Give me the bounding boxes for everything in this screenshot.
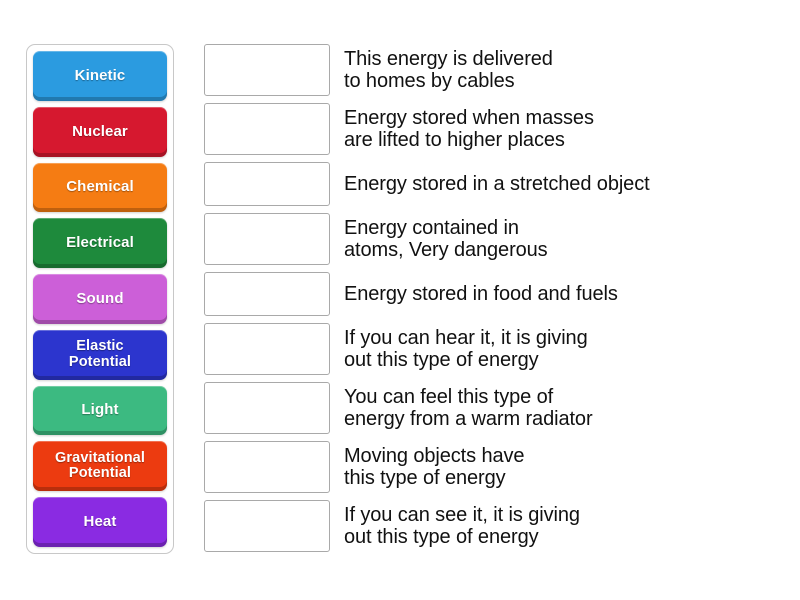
definition-2: Energy stored when masses are lifted to …: [330, 107, 784, 152]
match-row: Energy contained in atoms, Very dangerou…: [204, 213, 784, 265]
definition-3: Energy stored in a stretched object: [330, 173, 784, 195]
match-row: Moving objects have this type of energy: [204, 441, 784, 493]
tile-label: Gravitational Potential: [51, 451, 149, 482]
draggable-tile-nuclear[interactable]: Nuclear: [33, 107, 167, 157]
tile-label: Chemical: [62, 179, 138, 195]
definition-9: If you can see it, it is giving out this…: [330, 504, 784, 549]
draggable-tile-elastic-potential[interactable]: Elastic Potential: [33, 330, 167, 380]
match-up-activity: Kinetic Nuclear Chemical Electrical Soun…: [0, 0, 800, 600]
match-row: You can feel this type of energy from a …: [204, 382, 784, 434]
match-row: If you can see it, it is giving out this…: [204, 500, 784, 552]
dropzone-7[interactable]: [204, 382, 330, 434]
dropzone-2[interactable]: [204, 103, 330, 155]
match-row: If you can hear it, it is giving out thi…: [204, 323, 784, 375]
definition-5: Energy stored in food and fuels: [330, 283, 784, 305]
tile-label: Nuclear: [68, 124, 132, 140]
draggable-tile-sound[interactable]: Sound: [33, 274, 167, 324]
tile-label: Heat: [80, 514, 121, 530]
match-row: Energy stored in food and fuels: [204, 272, 784, 316]
match-row: This energy is delivered to homes by cab…: [204, 44, 784, 96]
match-row: Energy stored when masses are lifted to …: [204, 103, 784, 155]
definition-8: Moving objects have this type of energy: [330, 445, 784, 490]
draggable-tile-heat[interactable]: Heat: [33, 497, 167, 547]
definition-1: This energy is delivered to homes by cab…: [330, 48, 784, 93]
draggable-tile-kinetic[interactable]: Kinetic: [33, 51, 167, 101]
tile-label: Sound: [72, 291, 127, 307]
tile-label: Kinetic: [71, 68, 130, 84]
tile-label: Light: [77, 402, 122, 418]
dropzone-5[interactable]: [204, 272, 330, 316]
draggable-tile-light[interactable]: Light: [33, 386, 167, 436]
draggable-tile-electrical[interactable]: Electrical: [33, 218, 167, 268]
draggable-tile-gravitational-potential[interactable]: Gravitational Potential: [33, 441, 167, 491]
tile-label: Elastic Potential: [65, 339, 135, 370]
definition-6: If you can hear it, it is giving out thi…: [330, 327, 784, 372]
dropzone-4[interactable]: [204, 213, 330, 265]
match-rows: This energy is delivered to homes by cab…: [204, 44, 784, 552]
dropzone-9[interactable]: [204, 500, 330, 552]
draggable-tile-chemical[interactable]: Chemical: [33, 163, 167, 213]
dropzone-1[interactable]: [204, 44, 330, 96]
tile-label: Electrical: [62, 235, 138, 251]
dropzone-8[interactable]: [204, 441, 330, 493]
definition-4: Energy contained in atoms, Very dangerou…: [330, 217, 784, 262]
dropzone-6[interactable]: [204, 323, 330, 375]
definition-7: You can feel this type of energy from a …: [330, 386, 784, 431]
match-row: Energy stored in a stretched object: [204, 162, 784, 206]
dropzone-3[interactable]: [204, 162, 330, 206]
draggable-tiles-panel: Kinetic Nuclear Chemical Electrical Soun…: [26, 44, 174, 554]
